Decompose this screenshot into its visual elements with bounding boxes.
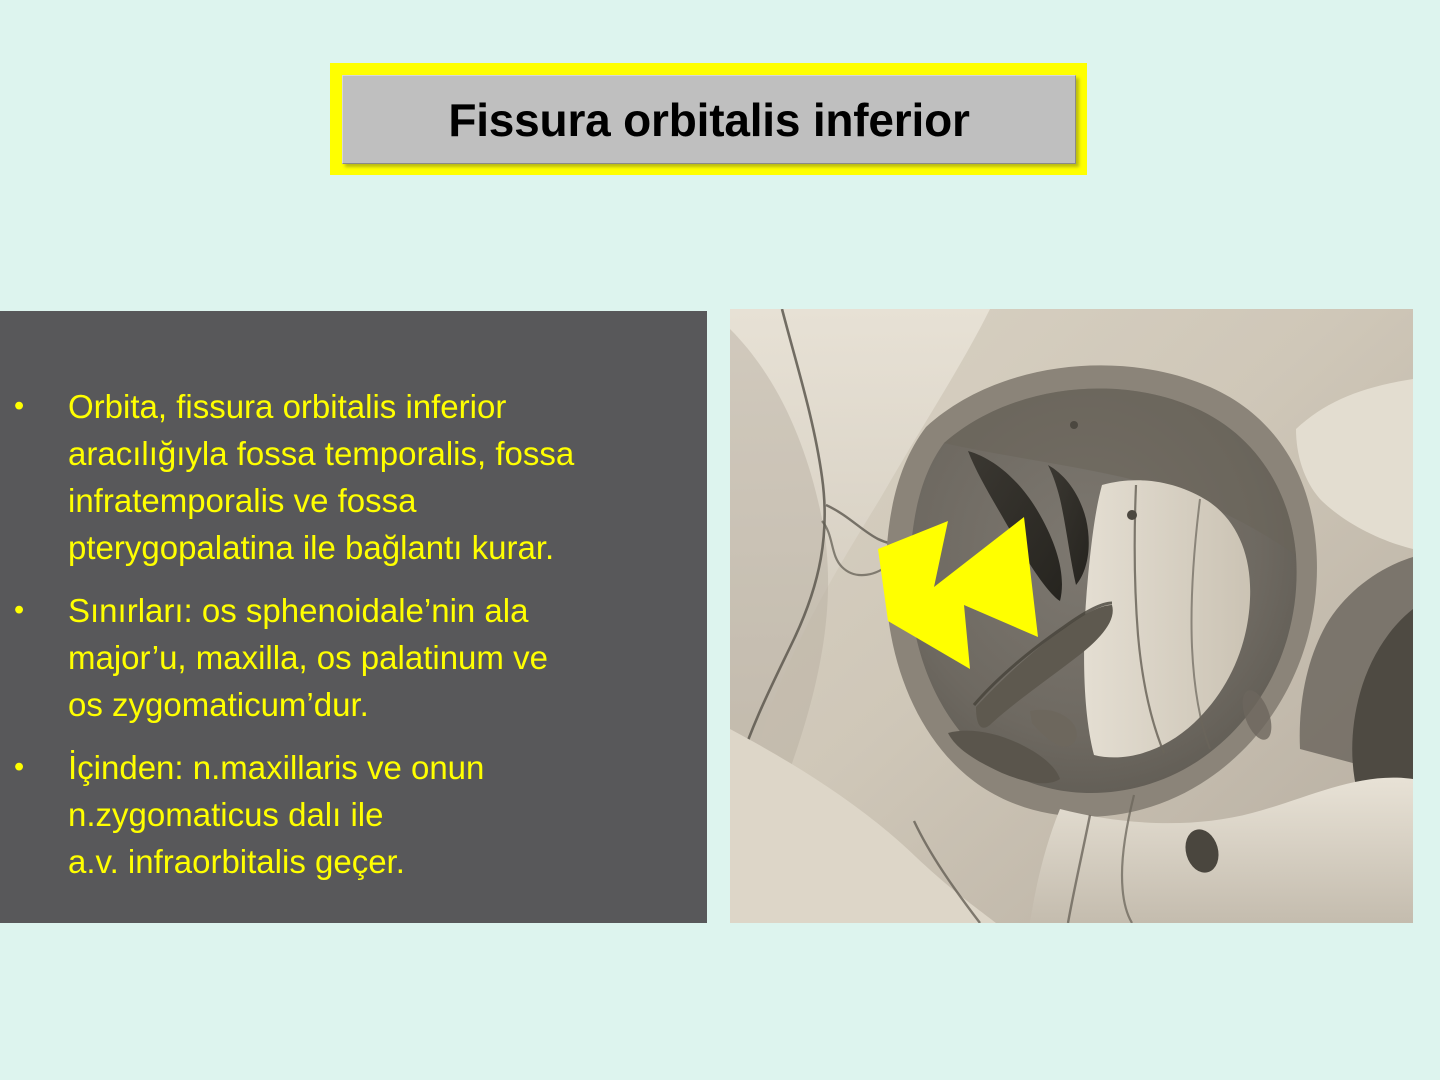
list-item: • Sınırları: os sphenoidale’nin ala majo…	[0, 587, 689, 728]
bullet-marker-icon: •	[0, 587, 68, 634]
content-text-panel: • Orbita, fissura orbitalis inferior ara…	[0, 311, 707, 923]
list-item: • Orbita, fissura orbitalis inferior ara…	[0, 383, 689, 571]
foramen-dot	[1127, 510, 1137, 520]
bullet-text: Orbita, fissura orbitalis inferior aracı…	[68, 383, 689, 571]
slide-title-inner-box: Fissura orbitalis inferior	[342, 75, 1076, 164]
skull-orbit-illustration	[730, 309, 1413, 923]
bullet-text: Sınırları: os sphenoidale’nin ala major’…	[68, 587, 689, 728]
slide-title-box: Fissura orbitalis inferior	[330, 63, 1087, 175]
anatomy-figure	[730, 309, 1413, 923]
page-title: Fissura orbitalis inferior	[448, 97, 969, 143]
foramen-dot	[1070, 421, 1078, 429]
bullet-marker-icon: •	[0, 744, 68, 791]
bullet-marker-icon: •	[0, 383, 68, 430]
bullet-text: İçinden: n.maxillaris ve onun n.zygomati…	[68, 744, 689, 885]
list-item: • İçinden: n.maxillaris ve onun n.zygoma…	[0, 744, 689, 885]
